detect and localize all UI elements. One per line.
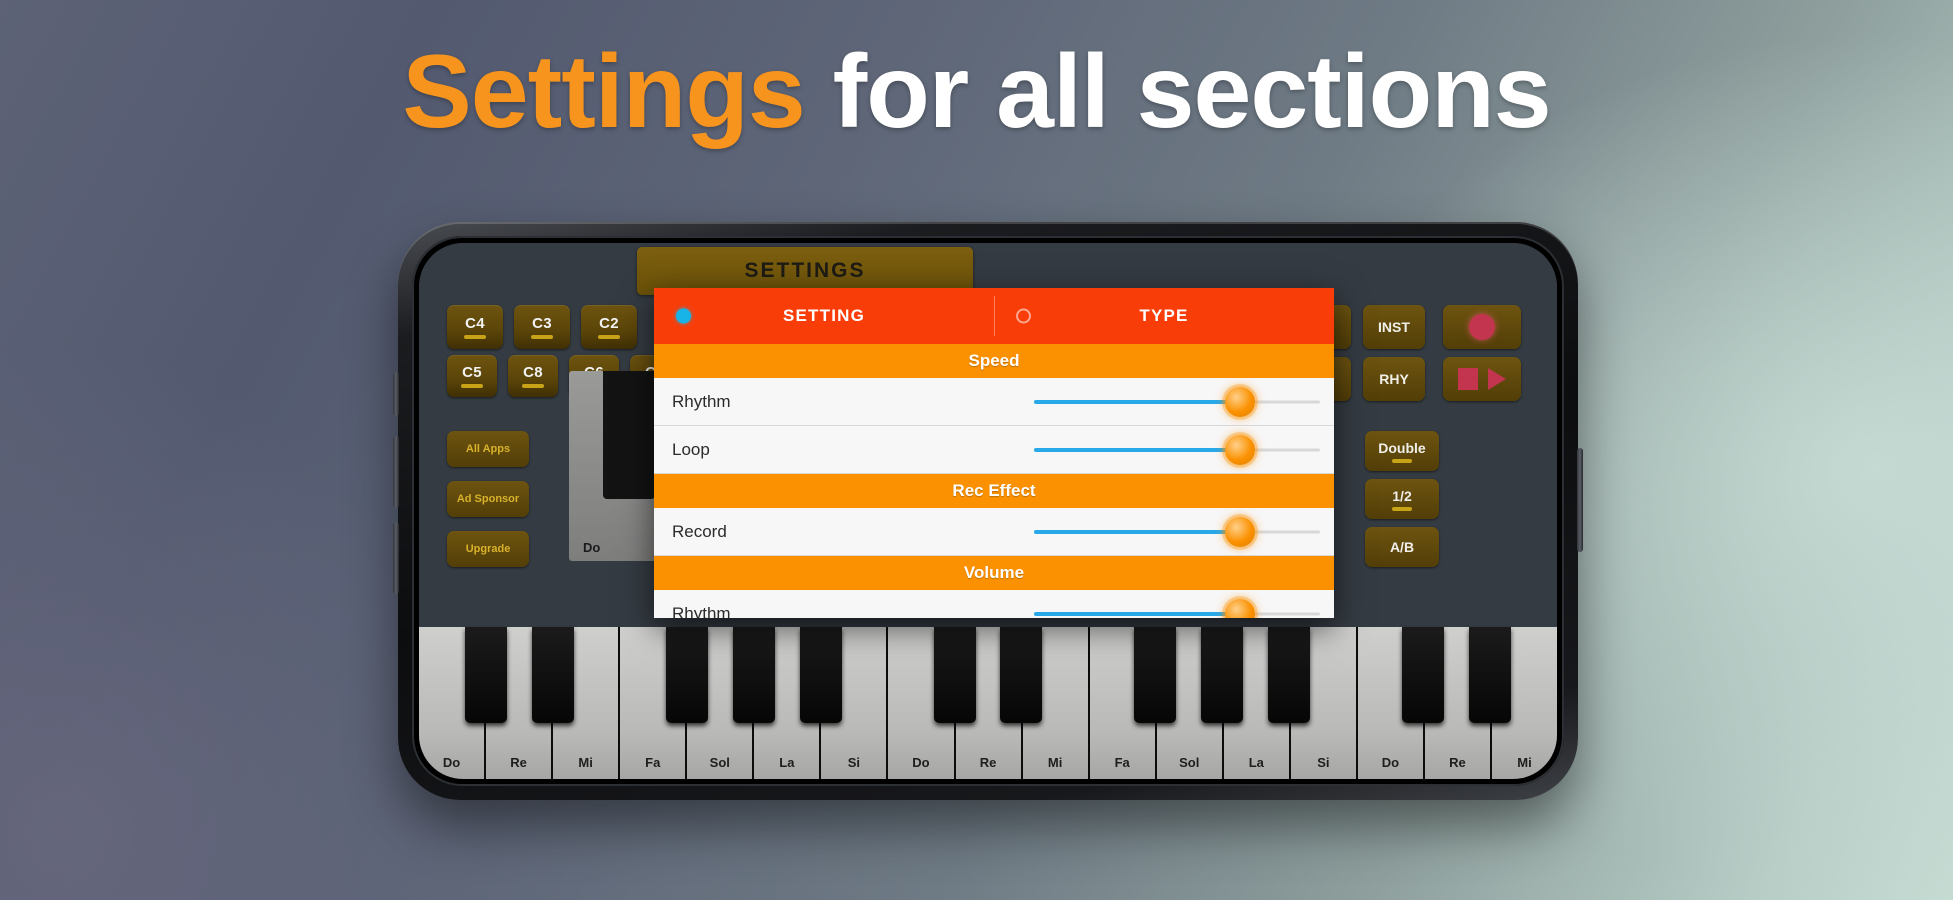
radio-selected-icon[interactable] [676, 309, 691, 324]
settings-section-header: Speed [654, 344, 1334, 378]
note-button-label: C2 [599, 315, 619, 332]
piano-key-label: Mi [578, 755, 592, 770]
screenshot-stage: Settings for all sections SETTINGS C4 C3 [0, 0, 1953, 900]
piano-key-label: Re [510, 755, 527, 770]
piano-keyboard: DoReMiFaSolLaSiDoReMiFaSolLaSiDoReMi [419, 627, 1557, 779]
preview-key-label: Do [583, 540, 600, 555]
settings-section-header: Volume [654, 556, 1334, 590]
slider-thumb[interactable] [1225, 599, 1255, 619]
piano-white-key[interactable]: La [1224, 627, 1291, 779]
settings-section-header: Rec Effect [654, 474, 1334, 508]
inst-button[interactable]: INST [1363, 305, 1425, 349]
inst-button-label: INST [1378, 319, 1410, 335]
piano-key-label: Sol [710, 755, 730, 770]
settings-slider[interactable] [1034, 602, 1320, 619]
tab-setting[interactable]: SETTING [654, 288, 994, 344]
piano-white-key[interactable]: Sol [1157, 627, 1224, 779]
tab-setting-label: SETTING [783, 306, 865, 326]
phone-mockup: SETTINGS C4 C3 C2 [398, 222, 1578, 800]
double-button-label: Double [1378, 440, 1425, 456]
settings-slider[interactable] [1034, 438, 1320, 462]
record-button[interactable] [1443, 305, 1521, 349]
double-button[interactable]: Double [1365, 431, 1439, 471]
white-keys-row: DoReMiFaSolLaSiDoReMiFaSolLaSiDoReMi [419, 627, 1557, 779]
piano-key-label: Re [1449, 755, 1466, 770]
stop-play-button[interactable] [1443, 357, 1521, 401]
note-button-underline [598, 335, 620, 339]
dialog-tab-bar: SETTING TYPE [654, 288, 1334, 344]
settings-row-label: Record [672, 522, 727, 542]
note-button-label: C3 [532, 315, 552, 332]
settings-row[interactable]: Record [654, 508, 1334, 556]
phone-volume-down-button [393, 522, 399, 594]
piano-white-key[interactable]: Do [1358, 627, 1425, 779]
piano-white-key[interactable]: Do [419, 627, 486, 779]
piano-key-label: Si [1317, 755, 1329, 770]
ab-button-label: A/B [1390, 539, 1414, 555]
piano-white-key[interactable]: Fa [620, 627, 687, 779]
settings-section-title: Speed [968, 351, 1019, 371]
piano-key-label: Si [848, 755, 860, 770]
settings-slider[interactable] [1034, 520, 1320, 544]
slider-thumb[interactable] [1225, 387, 1255, 417]
note-button-underline [464, 335, 486, 339]
note-button-underline [461, 384, 483, 388]
settings-row[interactable]: Loop [654, 426, 1334, 474]
settings-row[interactable]: Rhythm [654, 378, 1334, 426]
piano-key-label: Mi [1517, 755, 1531, 770]
note-button-underline [531, 335, 553, 339]
double-button-underline [1392, 459, 1412, 463]
piano-white-key[interactable]: Re [486, 627, 553, 779]
note-button-label: C4 [465, 315, 485, 332]
preview-black-key [603, 371, 655, 499]
piano-key-label: Re [980, 755, 997, 770]
slider-fill [1034, 530, 1240, 534]
piano-white-key[interactable]: Sol [687, 627, 754, 779]
radio-unselected-icon[interactable] [1016, 309, 1031, 324]
half-button[interactable]: 1/2 [1365, 479, 1439, 519]
page-title-rest: for all sections [805, 34, 1551, 150]
stop-icon [1458, 368, 1478, 390]
note-button-c5[interactable]: C5 [447, 355, 497, 397]
tab-type-label: TYPE [1139, 306, 1188, 326]
page-title-accent: Settings [402, 34, 804, 150]
ab-button[interactable]: A/B [1365, 527, 1439, 567]
settings-section-title: Volume [964, 563, 1024, 583]
settings-slider[interactable] [1034, 390, 1320, 414]
piano-white-key[interactable]: Si [1291, 627, 1358, 779]
settings-row[interactable]: Rhythm [654, 590, 1334, 618]
slider-fill [1034, 612, 1240, 616]
rhy-button-label: RHY [1379, 371, 1409, 387]
note-button-underline [522, 384, 544, 388]
note-button-c3[interactable]: C3 [514, 305, 570, 349]
piano-white-key[interactable]: Mi [553, 627, 620, 779]
play-icon [1488, 368, 1506, 390]
piano-white-key[interactable]: La [754, 627, 821, 779]
tab-type[interactable]: TYPE [994, 288, 1334, 344]
settings-row-label: Rhythm [672, 604, 731, 619]
note-button-label: C8 [523, 364, 543, 381]
piano-key-label: Fa [1115, 755, 1130, 770]
page-title: Settings for all sections [0, 38, 1953, 147]
piano-key-label: Mi [1048, 755, 1062, 770]
note-button-c8[interactable]: C8 [508, 355, 558, 397]
settings-dialog: SETTING TYPE SpeedRhythmLoopRec EffectRe… [654, 288, 1334, 618]
slider-fill [1034, 400, 1240, 404]
note-button-c2[interactable]: C2 [581, 305, 637, 349]
slider-fill [1034, 448, 1240, 452]
app-root: SETTINGS C4 C3 C2 [419, 243, 1557, 779]
piano-white-key[interactable]: Do [888, 627, 955, 779]
rhy-button[interactable]: RHY [1363, 357, 1425, 401]
dialog-settings-list[interactable]: SpeedRhythmLoopRec EffectRecordVolumeRhy… [654, 344, 1334, 618]
note-button-label: C5 [462, 364, 482, 381]
upgrade-button[interactable]: Upgrade [447, 531, 529, 567]
settings-row-label: Loop [672, 440, 710, 460]
piano-key-label: La [779, 755, 794, 770]
phone-power-button [1577, 448, 1583, 552]
ad-sponsor-button[interactable]: Ad Sponsor [447, 481, 529, 517]
half-button-underline [1392, 507, 1412, 511]
half-button-label: 1/2 [1392, 488, 1411, 504]
phone-mute-switch [393, 372, 399, 416]
settings-row-label: Rhythm [672, 392, 731, 412]
piano-key-label: Do [443, 755, 460, 770]
record-dot-icon [1469, 314, 1495, 340]
piano-key-label: La [1249, 755, 1264, 770]
piano-white-key[interactable]: Fa [1090, 627, 1157, 779]
phone-volume-up-button [393, 436, 399, 508]
slider-thumb[interactable] [1225, 435, 1255, 465]
phone-bezel: SETTINGS C4 C3 C2 [412, 236, 1564, 786]
phone-screen: SETTINGS C4 C3 C2 [419, 243, 1557, 779]
piano-key-label: Fa [645, 755, 660, 770]
note-button-c4[interactable]: C4 [447, 305, 503, 349]
piano-key-label: Sol [1179, 755, 1199, 770]
piano-key-label: Do [1382, 755, 1399, 770]
slider-thumb[interactable] [1225, 517, 1255, 547]
piano-key-label: Do [912, 755, 929, 770]
piano-white-key[interactable]: Si [821, 627, 888, 779]
piano-white-key[interactable]: Re [1425, 627, 1492, 779]
settings-section-title: Rec Effect [952, 481, 1035, 501]
piano-white-key[interactable]: Mi [1492, 627, 1557, 779]
piano-white-key[interactable]: Mi [1023, 627, 1090, 779]
piano-white-key[interactable]: Re [956, 627, 1023, 779]
all-apps-button[interactable]: All Apps [447, 431, 529, 467]
